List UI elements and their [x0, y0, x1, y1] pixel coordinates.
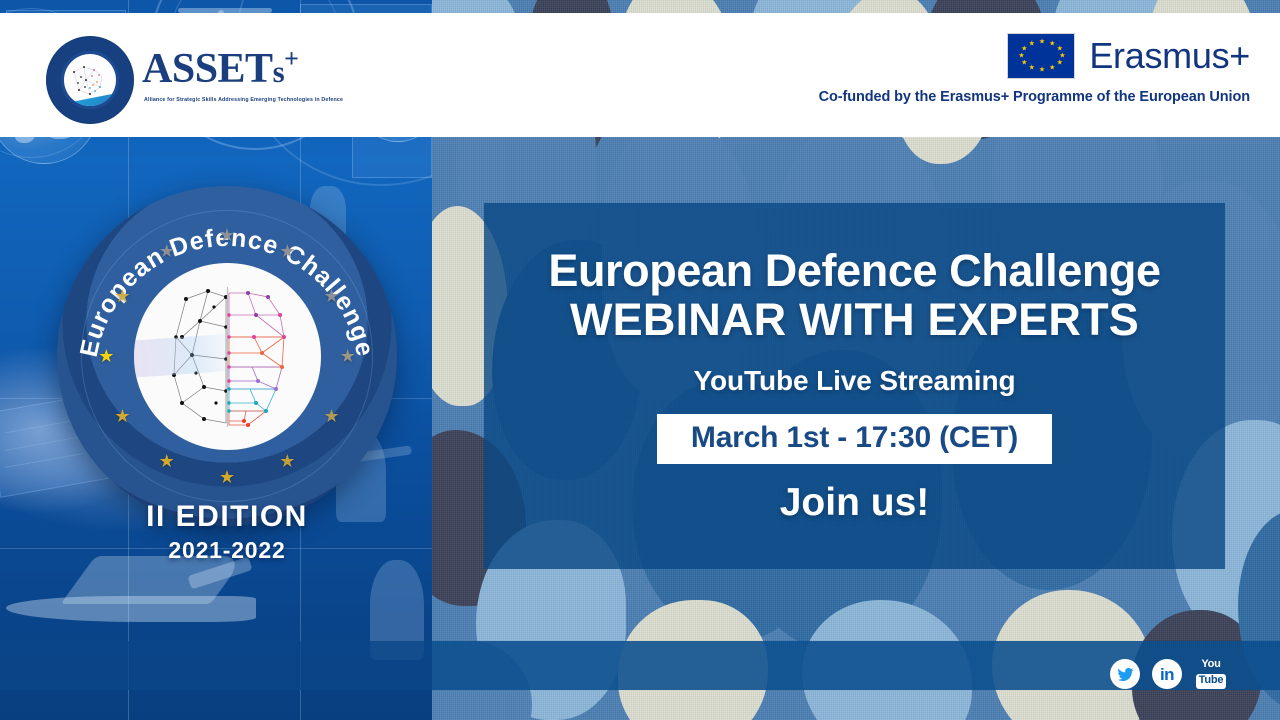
eu-star-icon: ★ — [1057, 60, 1062, 65]
emblem-star-icon: ★ — [279, 242, 295, 260]
twitter-icon[interactable] — [1110, 659, 1140, 689]
youtube-icon[interactable]: You Tube — [1194, 659, 1228, 688]
assets-brain-icon — [64, 54, 116, 106]
erasmus-funding-caption: Co-funded by the Erasmus+ Programme of t… — [819, 89, 1250, 105]
event-cta: Join us! — [780, 481, 930, 525]
event-date-text: March 1st - 17:30 (CET) — [691, 421, 1018, 456]
assets-tagline: Alliance for Strategic Skills Addressing… — [144, 98, 344, 103]
eu-star-icon: ★ — [1021, 60, 1026, 65]
emblem-star-icon: ★ — [114, 287, 130, 305]
event-date-box: March 1st - 17:30 (CET) — [657, 414, 1052, 465]
footer-left-band — [0, 641, 432, 690]
erasmus-wordmark: Erasmus+ — [1089, 38, 1250, 74]
header-bar: ASSETs+ Alliance for Strategic Skills Ad… — [0, 13, 1280, 137]
emblem-star-icon: ★ — [219, 468, 235, 486]
emblem-star-icon: ★ — [279, 452, 295, 470]
emblem-star-icon: ★ — [323, 407, 339, 425]
assets-word-small: s — [273, 54, 285, 89]
event-info-panel: European Defence Challenge WEBINAR WITH … — [484, 203, 1225, 569]
assets-wordmark: ASSETs+ — [142, 46, 298, 90]
eu-flag-icon: ★★★★★★★★★★★★ — [1007, 33, 1075, 79]
event-title-line2: WEBINAR WITH EXPERTS — [570, 295, 1139, 345]
assets-word-plus: + — [284, 44, 298, 73]
eu-star-icon: ★ — [1049, 42, 1054, 47]
emblem-star-icon: ★ — [340, 347, 356, 365]
eu-star-icon: ★ — [1029, 65, 1034, 70]
eu-star-icon: ★ — [1021, 47, 1026, 52]
emblem-star-icon: ★ — [159, 242, 175, 260]
linkedin-label: in — [1160, 666, 1174, 683]
emblem-star-icon: ★ — [219, 226, 235, 244]
linkedin-icon[interactable]: in — [1152, 659, 1182, 689]
emblem-star-icon: ★ — [323, 287, 339, 305]
youtube-label-top: You — [1194, 659, 1228, 671]
eu-star-icon: ★ — [1057, 47, 1062, 52]
assets-plus-logo: ASSETs+ Alliance for Strategic Skills Ad… — [46, 36, 301, 124]
eu-star-icon: ★ — [1039, 40, 1044, 45]
edition-label: II EDITION — [57, 500, 397, 534]
social-links: in You Tube — [1110, 659, 1228, 689]
emblem-star-icon: ★ — [114, 407, 130, 425]
eu-star-icon: ★ — [1018, 54, 1023, 59]
erasmus-logo-block: ★★★★★★★★★★★★ Erasmus+ Co-funded by the E… — [819, 33, 1250, 105]
emblem-brain-disc — [134, 263, 321, 450]
emblem-star-icon: ★ — [98, 347, 114, 365]
edition-block: II EDITION 2021-2022 — [57, 500, 397, 564]
eu-star-icon: ★ — [1029, 42, 1034, 47]
assets-word-main: ASSET — [142, 46, 273, 92]
footer-bar — [0, 641, 1280, 690]
event-subtitle: YouTube Live Streaming — [694, 365, 1016, 397]
eu-star-icon: ★ — [1039, 67, 1044, 72]
youtube-label-bottom: Tube — [1196, 674, 1227, 689]
banner-canvas: ASSETs+ Alliance for Strategic Skills Ad… — [0, 0, 1280, 720]
emblem-star-icon: ★ — [159, 452, 175, 470]
eu-star-icon: ★ — [1059, 54, 1064, 59]
edition-years: 2021-2022 — [57, 537, 397, 564]
eu-star-icon: ★ — [1049, 65, 1054, 70]
european-defence-challenge-emblem: European Defence Challenge — [57, 186, 397, 526]
event-title-line1: European Defence Challenge — [548, 247, 1160, 295]
